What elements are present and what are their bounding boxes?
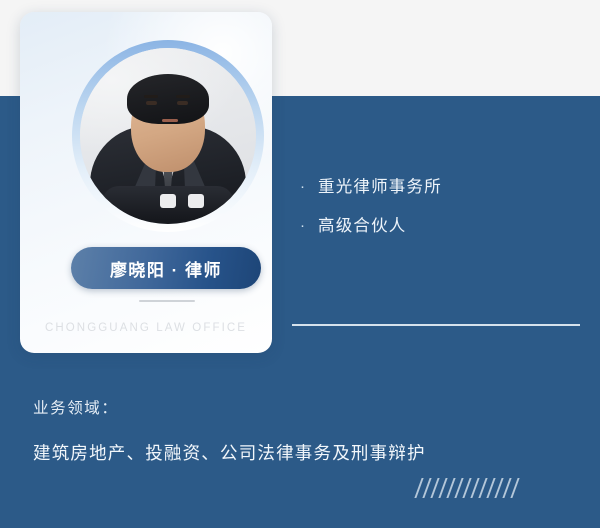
- portrait-eye-right: [177, 101, 188, 105]
- portrait-brow-right: [176, 95, 190, 98]
- profile-card: 廖晓阳 · 律师 CHONGGUANG LAW OFFICE: [20, 12, 272, 353]
- organization-latin-name: CHONGGUANG LAW OFFICE: [20, 322, 272, 334]
- credential-label: 高级合伙人: [318, 215, 407, 237]
- portrait-cuff-left: [160, 194, 176, 208]
- bullet-icon: ·: [300, 176, 318, 198]
- credential-label: 重光律师事务所: [318, 176, 442, 198]
- credentials-list: · 重光律师事务所 · 高级合伙人: [300, 176, 584, 254]
- avatar-ring: [72, 40, 264, 232]
- portrait-brow-left: [144, 95, 158, 98]
- portrait-cuff-right: [188, 194, 204, 208]
- portrait-hair: [127, 74, 209, 124]
- practice-areas-label: 业务领域：: [33, 396, 119, 418]
- slash-decoration: [418, 478, 516, 498]
- practice-areas-value: 建筑房地产、投融资、公司法律事务及刑事辩护: [33, 440, 426, 465]
- portrait-eye-left: [146, 101, 157, 105]
- name-badge: 廖晓阳 · 律师: [71, 247, 261, 289]
- list-item: · 重光律师事务所: [300, 176, 584, 198]
- portrait-photo-icon: [80, 48, 256, 224]
- name-badge-label: 廖晓阳 · 律师: [110, 256, 222, 281]
- section-rule: [292, 324, 580, 326]
- bullet-icon: ·: [300, 215, 318, 237]
- list-item: · 高级合伙人: [300, 215, 584, 237]
- card-divider: [139, 300, 195, 302]
- portrait-mouth: [162, 119, 178, 122]
